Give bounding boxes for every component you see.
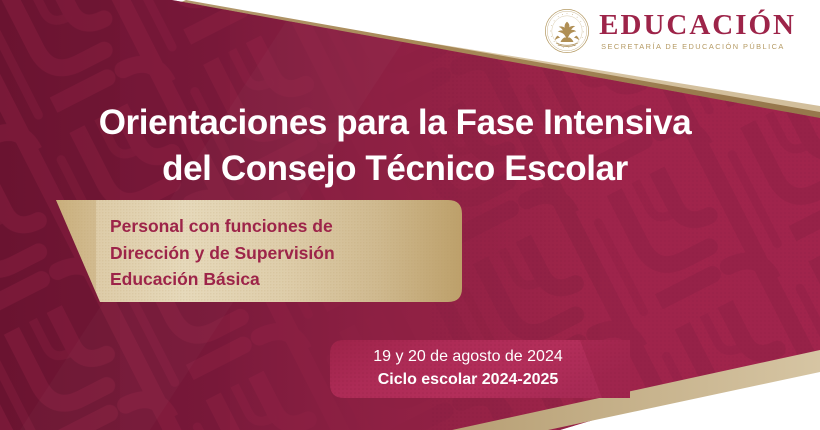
banner-title: Orientaciones para la Fase Intensiva del…	[0, 100, 790, 191]
logo-subtitle: SECRETARÍA DE EDUCACIÓN PÚBLICA	[599, 42, 785, 51]
date-line-1: 19 y 20 de agosto de 2024	[373, 346, 563, 369]
logo-wordmark-group: EDUCACIÓN SECRETARÍA DE EDUCACIÓN PÚBLIC…	[599, 11, 796, 52]
audience-line-2: Dirección y de Supervisión	[110, 240, 450, 267]
sep-logo: EDUCACIÓN SECRETARÍA DE EDUCACIÓN PÚBLIC…	[544, 8, 796, 54]
date-line-2: Ciclo escolar 2024-2025	[378, 369, 559, 392]
date-text-group: 19 y 20 de agosto de 2024 Ciclo escolar …	[330, 340, 630, 398]
audience-text-group: Personal con funciones de Dirección y de…	[110, 213, 450, 293]
title-line-1: Orientaciones para la Fase Intensiva	[0, 100, 790, 146]
title-line-2: del Consejo Técnico Escolar	[0, 146, 790, 192]
mexican-national-seal-icon	[544, 8, 590, 54]
audience-line-3: Educación Básica	[110, 266, 450, 293]
audience-line-1: Personal con funciones de	[110, 213, 450, 240]
education-banner: EDUCACIÓN SECRETARÍA DE EDUCACIÓN PÚBLIC…	[0, 0, 820, 430]
audience-panel: Personal con funciones de Dirección y de…	[42, 200, 462, 302]
date-panel: 19 y 20 de agosto de 2024 Ciclo escolar …	[330, 340, 630, 398]
logo-wordmark: EDUCACIÓN	[599, 11, 796, 41]
